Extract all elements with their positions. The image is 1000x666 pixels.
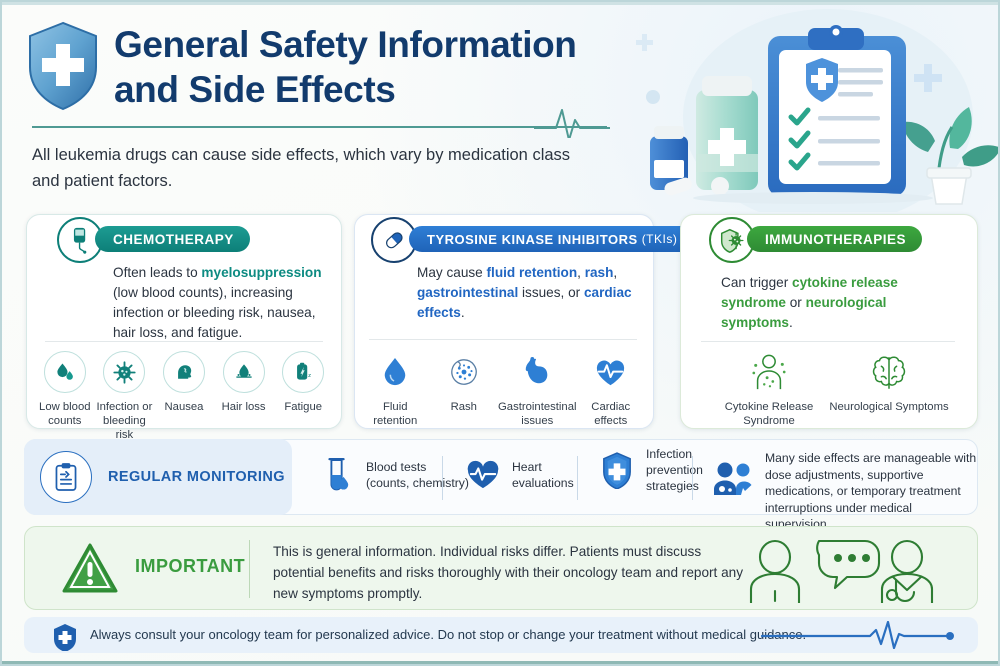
- shield-plus-icon: [597, 447, 637, 493]
- monitoring-item-line2: (counts, chemistry): [366, 475, 469, 491]
- card-body-immunotherapies: Can trigger cytokine release syndrome or…: [721, 273, 961, 333]
- warning-triangle-icon: [61, 541, 119, 597]
- body-highlight: myelosuppression: [201, 265, 321, 280]
- body-text: May cause: [417, 265, 487, 280]
- care-team-icon-wrap: [711, 456, 759, 502]
- card-badge-tki: TYROSINE KINASE INHIBITORS (TKIs): [409, 226, 693, 252]
- side-effect-label: Nausea: [165, 400, 204, 414]
- body-text: ,: [577, 265, 585, 280]
- monitoring-item-line1: Heart: [512, 459, 574, 475]
- card-divider: [369, 339, 637, 340]
- monitoring-divider: [692, 456, 693, 500]
- badge-label: TYROSINE KINASE INHIBITORS: [427, 232, 638, 247]
- important-band: IMPORTANT This is general information. I…: [24, 526, 978, 610]
- side-effect-item: z Fatigue: [273, 351, 333, 442]
- important-text: This is general information. Individual …: [273, 541, 743, 604]
- footer-bar: Always consult your oncology team for pe…: [24, 617, 978, 653]
- monitoring-note: Many side effects are manageable with do…: [765, 450, 977, 533]
- monitoring-divider: [577, 456, 578, 500]
- virus-icon: [103, 351, 145, 393]
- card-immunotherapies: IMMUNOTHERAPIES Can trigger cytokine rel…: [680, 214, 978, 429]
- body-text: .: [789, 315, 793, 330]
- side-effect-label: Rash: [451, 400, 477, 414]
- monitoring-item-heart: Heart evaluations: [463, 452, 574, 498]
- body-highlight: rash: [585, 265, 614, 280]
- body-text: ,: [613, 265, 617, 280]
- side-effect-item: Neurological Symptoms: [829, 351, 949, 428]
- card-body-tki: May cause fluid retention, rash, gastroi…: [417, 263, 639, 323]
- clipboard-check-icon: [40, 451, 92, 503]
- svg-text:z: z: [308, 373, 311, 379]
- card-divider: [701, 341, 955, 342]
- side-effect-icons-chemotherapy: Low blood counts Infection or bleeding r…: [35, 351, 333, 442]
- monitoring-item-line3: strategies: [646, 478, 703, 494]
- page-subtitle: All leukemia drugs can cause side effect…: [32, 142, 592, 194]
- monitoring-label-pill: REGULAR MONITORING: [24, 439, 292, 515]
- side-effect-item: Cytokine Release Syndrome: [709, 351, 829, 428]
- side-effect-label: Cardiac effects: [577, 400, 646, 428]
- card-chemotherapy: CHEMOTHERAPY Often leads to myelosuppres…: [26, 214, 342, 429]
- monitoring-item-text: Blood tests (counts, chemistry): [366, 459, 469, 491]
- side-effect-label: Infection or bleeding risk: [95, 400, 155, 442]
- body-text: .: [461, 305, 465, 320]
- side-effect-icons-immunotherapies: Cytokine Release Syndrome Neurologica: [709, 351, 949, 428]
- badge-label: IMMUNOTHERAPIES: [765, 232, 906, 247]
- side-effect-label: Low blood counts: [35, 400, 95, 428]
- side-effect-label: Cytokine Release Syndrome: [709, 400, 829, 428]
- footer-text: Always consult your oncology team for pe…: [90, 626, 806, 644]
- heartbeat-line-icon: [760, 621, 960, 649]
- page-title-line1: General Safety Information: [114, 22, 634, 67]
- rash-spots-icon: [443, 351, 485, 393]
- card-badge-chemotherapy: CHEMOTHERAPY: [95, 226, 250, 252]
- side-effect-label: Fluid retention: [361, 400, 430, 428]
- side-effect-label: Hair loss: [222, 400, 266, 414]
- body-highlight: gastrointestinal: [417, 285, 518, 300]
- monitoring-item-text: Infection prevention strategies: [646, 446, 703, 494]
- patient-doctor-conversation-icon: [725, 535, 955, 603]
- side-effect-item: Fluid retention: [361, 351, 430, 428]
- shield-plus-icon: [24, 20, 102, 112]
- body-text: issues, or: [518, 285, 584, 300]
- test-tube-icon: [317, 452, 357, 498]
- monitoring-item-line2: prevention: [646, 462, 703, 478]
- side-effect-item: Rash: [430, 351, 499, 428]
- bottom-edge-rule: [2, 661, 998, 664]
- side-effect-icons-tki: Fluid retention: [361, 351, 645, 428]
- side-effect-item: Low blood counts: [35, 351, 95, 442]
- side-effect-label: Gastrointestinal issues: [498, 400, 577, 428]
- person-cytokine-icon: [748, 351, 790, 393]
- body-highlight: fluid retention: [487, 265, 578, 280]
- head-nausea-icon: [163, 351, 205, 393]
- monitoring-item-blood-tests: Blood tests (counts, chemistry): [317, 452, 469, 498]
- hair-follicle-icon: [223, 351, 265, 393]
- infographic-canvas: General Safety Information and Side Effe…: [0, 0, 1000, 666]
- heart-pulse-icon: [590, 351, 632, 393]
- monitoring-divider: [442, 456, 443, 500]
- care-team-icon: [711, 456, 759, 502]
- blood-drops-icon: [44, 351, 86, 393]
- badge-sublabel: (TKIs): [642, 232, 678, 246]
- side-effect-item: Nausea: [154, 351, 214, 442]
- side-effect-item: Infection or bleeding risk: [95, 351, 155, 442]
- hero-illustration: [628, 2, 998, 212]
- side-effect-item: Cardiac effects: [577, 351, 646, 428]
- card-badge-immunotherapies: IMMUNOTHERAPIES: [747, 226, 922, 252]
- monitoring-item-line1: Infection: [646, 446, 703, 462]
- badge-label: CHEMOTHERAPY: [113, 232, 234, 247]
- brain-icon: [868, 351, 910, 393]
- card-body-chemotherapy: Often leads to myelosuppression (low blo…: [113, 263, 325, 343]
- side-effect-label: Fatigue: [284, 400, 322, 414]
- card-divider: [45, 341, 323, 342]
- monitoring-item-infection: Infection prevention strategies: [597, 446, 703, 494]
- body-text: Can trigger: [721, 275, 792, 290]
- monitoring-label: REGULAR MONITORING: [108, 469, 285, 485]
- page-title: General Safety Information and Side Effe…: [114, 22, 634, 112]
- monitoring-item-line1: Blood tests: [366, 459, 469, 475]
- side-effect-label: Neurological Symptoms: [829, 400, 948, 414]
- monitoring-item-text: Heart evaluations: [512, 459, 574, 491]
- page-header: General Safety Information and Side Effe…: [2, 2, 662, 202]
- body-text: Often leads to: [113, 265, 201, 280]
- side-effect-item: Gastrointestinal issues: [498, 351, 577, 428]
- battery-low-icon: z: [282, 351, 324, 393]
- regular-monitoring-band: REGULAR MONITORING Blood tests (counts, …: [24, 439, 978, 515]
- important-divider: [249, 540, 250, 598]
- heart-pulse-icon: [463, 452, 503, 498]
- monitoring-item-line2: evaluations: [512, 475, 574, 491]
- card-tki: TYROSINE KINASE INHIBITORS (TKIs) May ca…: [354, 214, 654, 429]
- stomach-icon: [516, 351, 558, 393]
- body-text: or: [786, 295, 806, 310]
- heartbeat-line-icon: [532, 102, 612, 138]
- water-drop-icon: [374, 351, 416, 393]
- title-divider: [32, 126, 607, 128]
- important-label: IMPORTANT: [135, 556, 245, 577]
- shield-plus-icon: [52, 623, 78, 649]
- body-text: (low blood counts), increasing infection…: [113, 285, 316, 340]
- side-effect-item: Hair loss: [214, 351, 274, 442]
